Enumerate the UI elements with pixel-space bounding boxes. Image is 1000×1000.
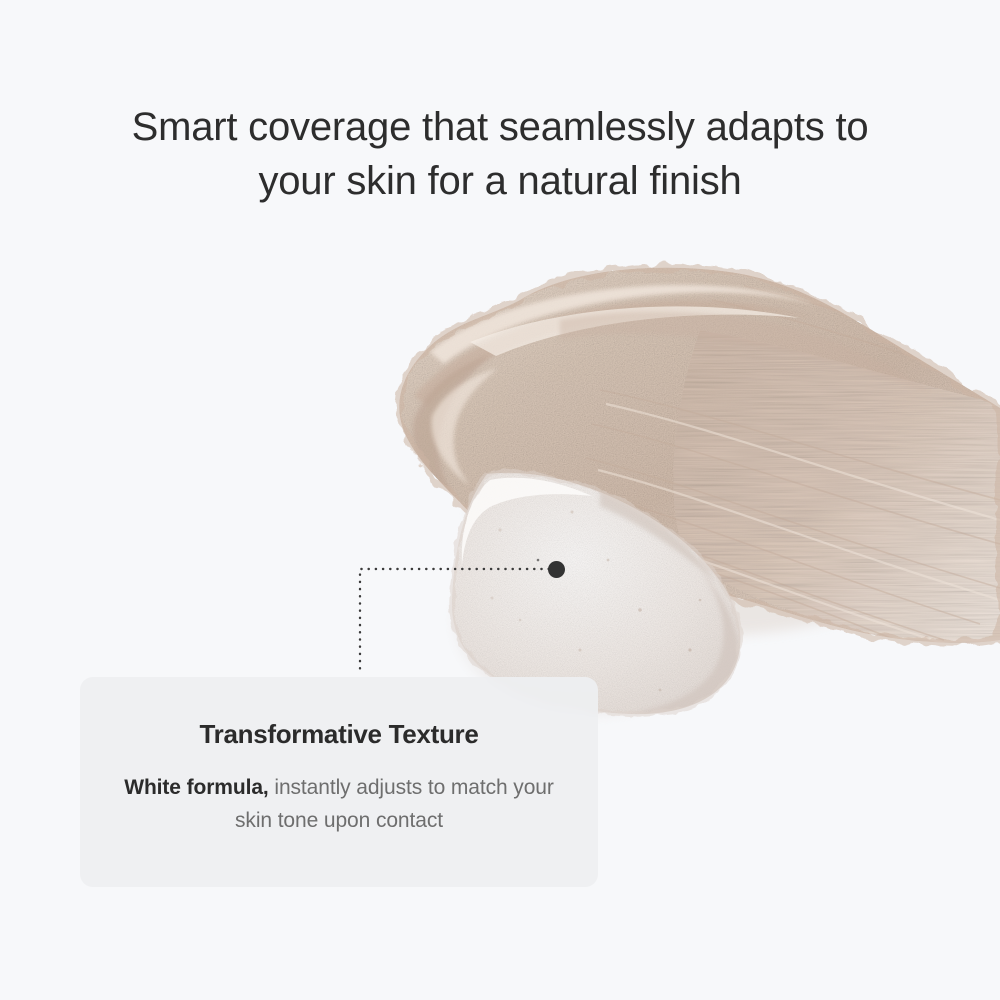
info-callout-card: Transformative Texture White formula, in… [80,677,598,887]
card-title: Transformative Texture [114,717,564,751]
product-feature-graphic: Smart coverage that seamlessly adapts to… [0,0,1000,1000]
card-body-lead: White formula, [124,776,268,799]
card-body-rest: instantly adjusts to match your skin ton… [235,776,554,832]
card-body: White formula, instantly adjusts to matc… [114,771,564,837]
callout-marker-dot [548,561,565,578]
